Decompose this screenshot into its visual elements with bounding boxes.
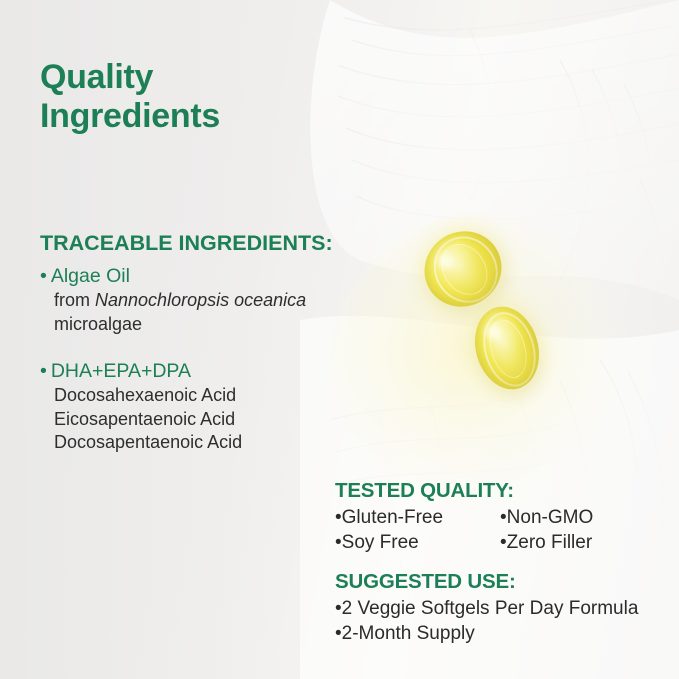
ingredient-name-row: •DHA+EPA+DPA [40,358,370,384]
tested-quality-column-right: •Non-GMO •Zero Filler [500,505,665,555]
list-item: •2 Veggie Softgels Per Day Formula [335,596,665,621]
suggested-use-list: •2 Veggie Softgels Per Day Formula •2-Mo… [335,596,665,646]
list-item: •Zero Filler [500,530,665,555]
acid-name-1: Docosahexaenoic Acid [40,384,370,408]
quality-and-use-section: TESTED QUALITY: •Gluten-Free •Soy Free •… [335,478,665,646]
acid-name-2: Eicosapentaenoic Acid [40,408,370,432]
list-item: •Gluten-Free [335,505,500,530]
ingredient-name-row: •Algae Oil [40,263,370,289]
ingredient-item-omega-acids: •DHA+EPA+DPA Docosahexaenoic Acid Eicosa… [40,358,370,455]
traceable-ingredients-heading: TRACEABLE INGREDIENTS: [40,230,370,256]
source-prefix: from [54,290,95,310]
tested-quality-list: •Gluten-Free •Soy Free •Non-GMO •Zero Fi… [335,505,665,555]
ingredient-source-line-1: from Nannochloropsis oceanica [40,289,370,313]
ingredient-item-algae-oil: •Algae Oil from Nannochloropsis oceanica… [40,263,370,336]
list-item: •Soy Free [335,530,500,555]
suggested-use-heading: SUGGESTED USE: [335,569,665,595]
product-infographic: Quality Ingredients TRACEABLE INGREDIENT… [0,0,679,679]
ingredient-name: Algae Oil [51,265,130,287]
tested-quality-heading: TESTED QUALITY: [335,478,665,504]
ingredient-source-line-2: microalgae [40,313,370,337]
species-name: Nannochloropsis oceanica [95,290,306,310]
acid-name-3: Docosapentaenoic Acid [40,431,370,455]
list-item: •2-Month Supply [335,621,665,646]
page-title: Quality Ingredients [40,58,220,136]
tested-quality-column-left: •Gluten-Free •Soy Free [335,505,500,555]
ingredient-name: DHA+EPA+DPA [51,360,191,382]
bullet-icon: • [40,265,47,287]
bullet-icon: • [40,360,47,382]
traceable-ingredients-section: TRACEABLE INGREDIENTS: •Algae Oil from N… [40,230,370,455]
list-item: •Non-GMO [500,505,665,530]
